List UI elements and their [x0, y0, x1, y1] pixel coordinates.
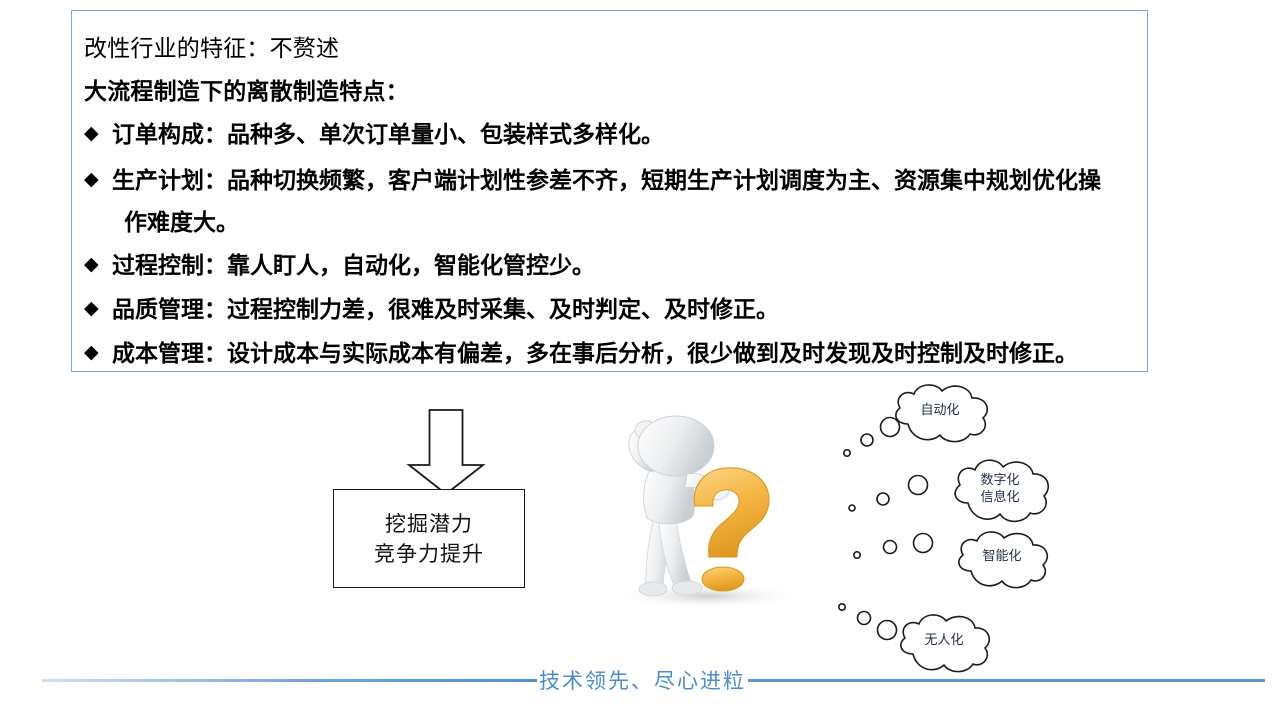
bullet-text: 品质管理：过程控制力差，很难及时采集、及时判定、及时修正。 — [112, 294, 779, 324]
diamond-bullet-icon: ◆ — [84, 119, 112, 149]
diamond-bullet-icon: ◆ — [84, 165, 112, 195]
cloud-shape-icon — [884, 380, 996, 446]
footer-divider-right — [748, 679, 1265, 682]
heading-industry-traits: 改性行业的特征：不赘述 — [84, 29, 339, 63]
cloud-digital-information: 数字化 信息化 — [944, 455, 1056, 527]
diamond-bullet-icon: ◆ — [84, 338, 112, 368]
diamond-bullet-icon: ◆ — [84, 250, 112, 280]
bullet-text: 过程控制：靠人盯人，自动化，智能化管控少。 — [112, 250, 595, 280]
bullet-text: 成本管理：设计成本与实际成本有偏差，多在事后分析，很少做到及时发现及时控制及时修… — [112, 338, 1078, 368]
cloud-shape-icon — [948, 528, 1056, 592]
diamond-bullet-icon: ◆ — [84, 294, 112, 324]
heading-discrete-manufacturing: 大流程制造下的离散制造特点： — [84, 72, 409, 106]
bullet-item-production-plan: ◆ 生产计划：品种切换频繁，客户端计划性参差不齐，短期生产计划调度为主、资源集中… — [84, 165, 1101, 195]
outcome-box: 挖掘潜力 竞争力提升 — [333, 489, 525, 588]
footer-slogan: 技术领先、尽心进粒 — [537, 665, 748, 695]
bullet-item-quality-management: ◆ 品质管理：过程控制力差，很难及时采集、及时判定、及时修正。 — [84, 294, 779, 324]
footer-divider-left — [42, 679, 537, 682]
footer: 技术领先、尽心进粒 — [0, 660, 1282, 704]
bullet-text-continuation: 作难度大。 — [124, 207, 239, 237]
bullet-item-order-composition: ◆ 订单构成：品种多、单次订单量小、包装样式多样化。 — [84, 119, 664, 149]
down-arrow-icon — [406, 409, 486, 495]
bullet-text: 生产计划：品种切换频繁，客户端计划性参差不齐，短期生产计划调度为主、资源集中规划… — [112, 165, 1101, 195]
outcome-line-2: 竞争力提升 — [374, 539, 484, 569]
cloud-shape-icon — [944, 455, 1056, 527]
confused-person-question-mark-illustration — [583, 402, 831, 613]
cloud-intelligent: 智能化 — [948, 528, 1056, 592]
content-box: 改性行业的特征：不赘述 大流程制造下的离散制造特点： ◆ 订单构成：品种多、单次… — [71, 10, 1148, 372]
bullet-text: 订单构成：品种多、单次订单量小、包装样式多样化。 — [112, 119, 664, 149]
cloud-automation: 自动化 — [884, 380, 996, 446]
bullet-item-process-control: ◆ 过程控制：靠人盯人，自动化，智能化管控少。 — [84, 250, 595, 280]
outcome-line-1: 挖掘潜力 — [385, 509, 473, 539]
bullet-item-cost-management: ◆ 成本管理：设计成本与实际成本有偏差，多在事后分析，很少做到及时发现及时控制及… — [84, 338, 1078, 368]
